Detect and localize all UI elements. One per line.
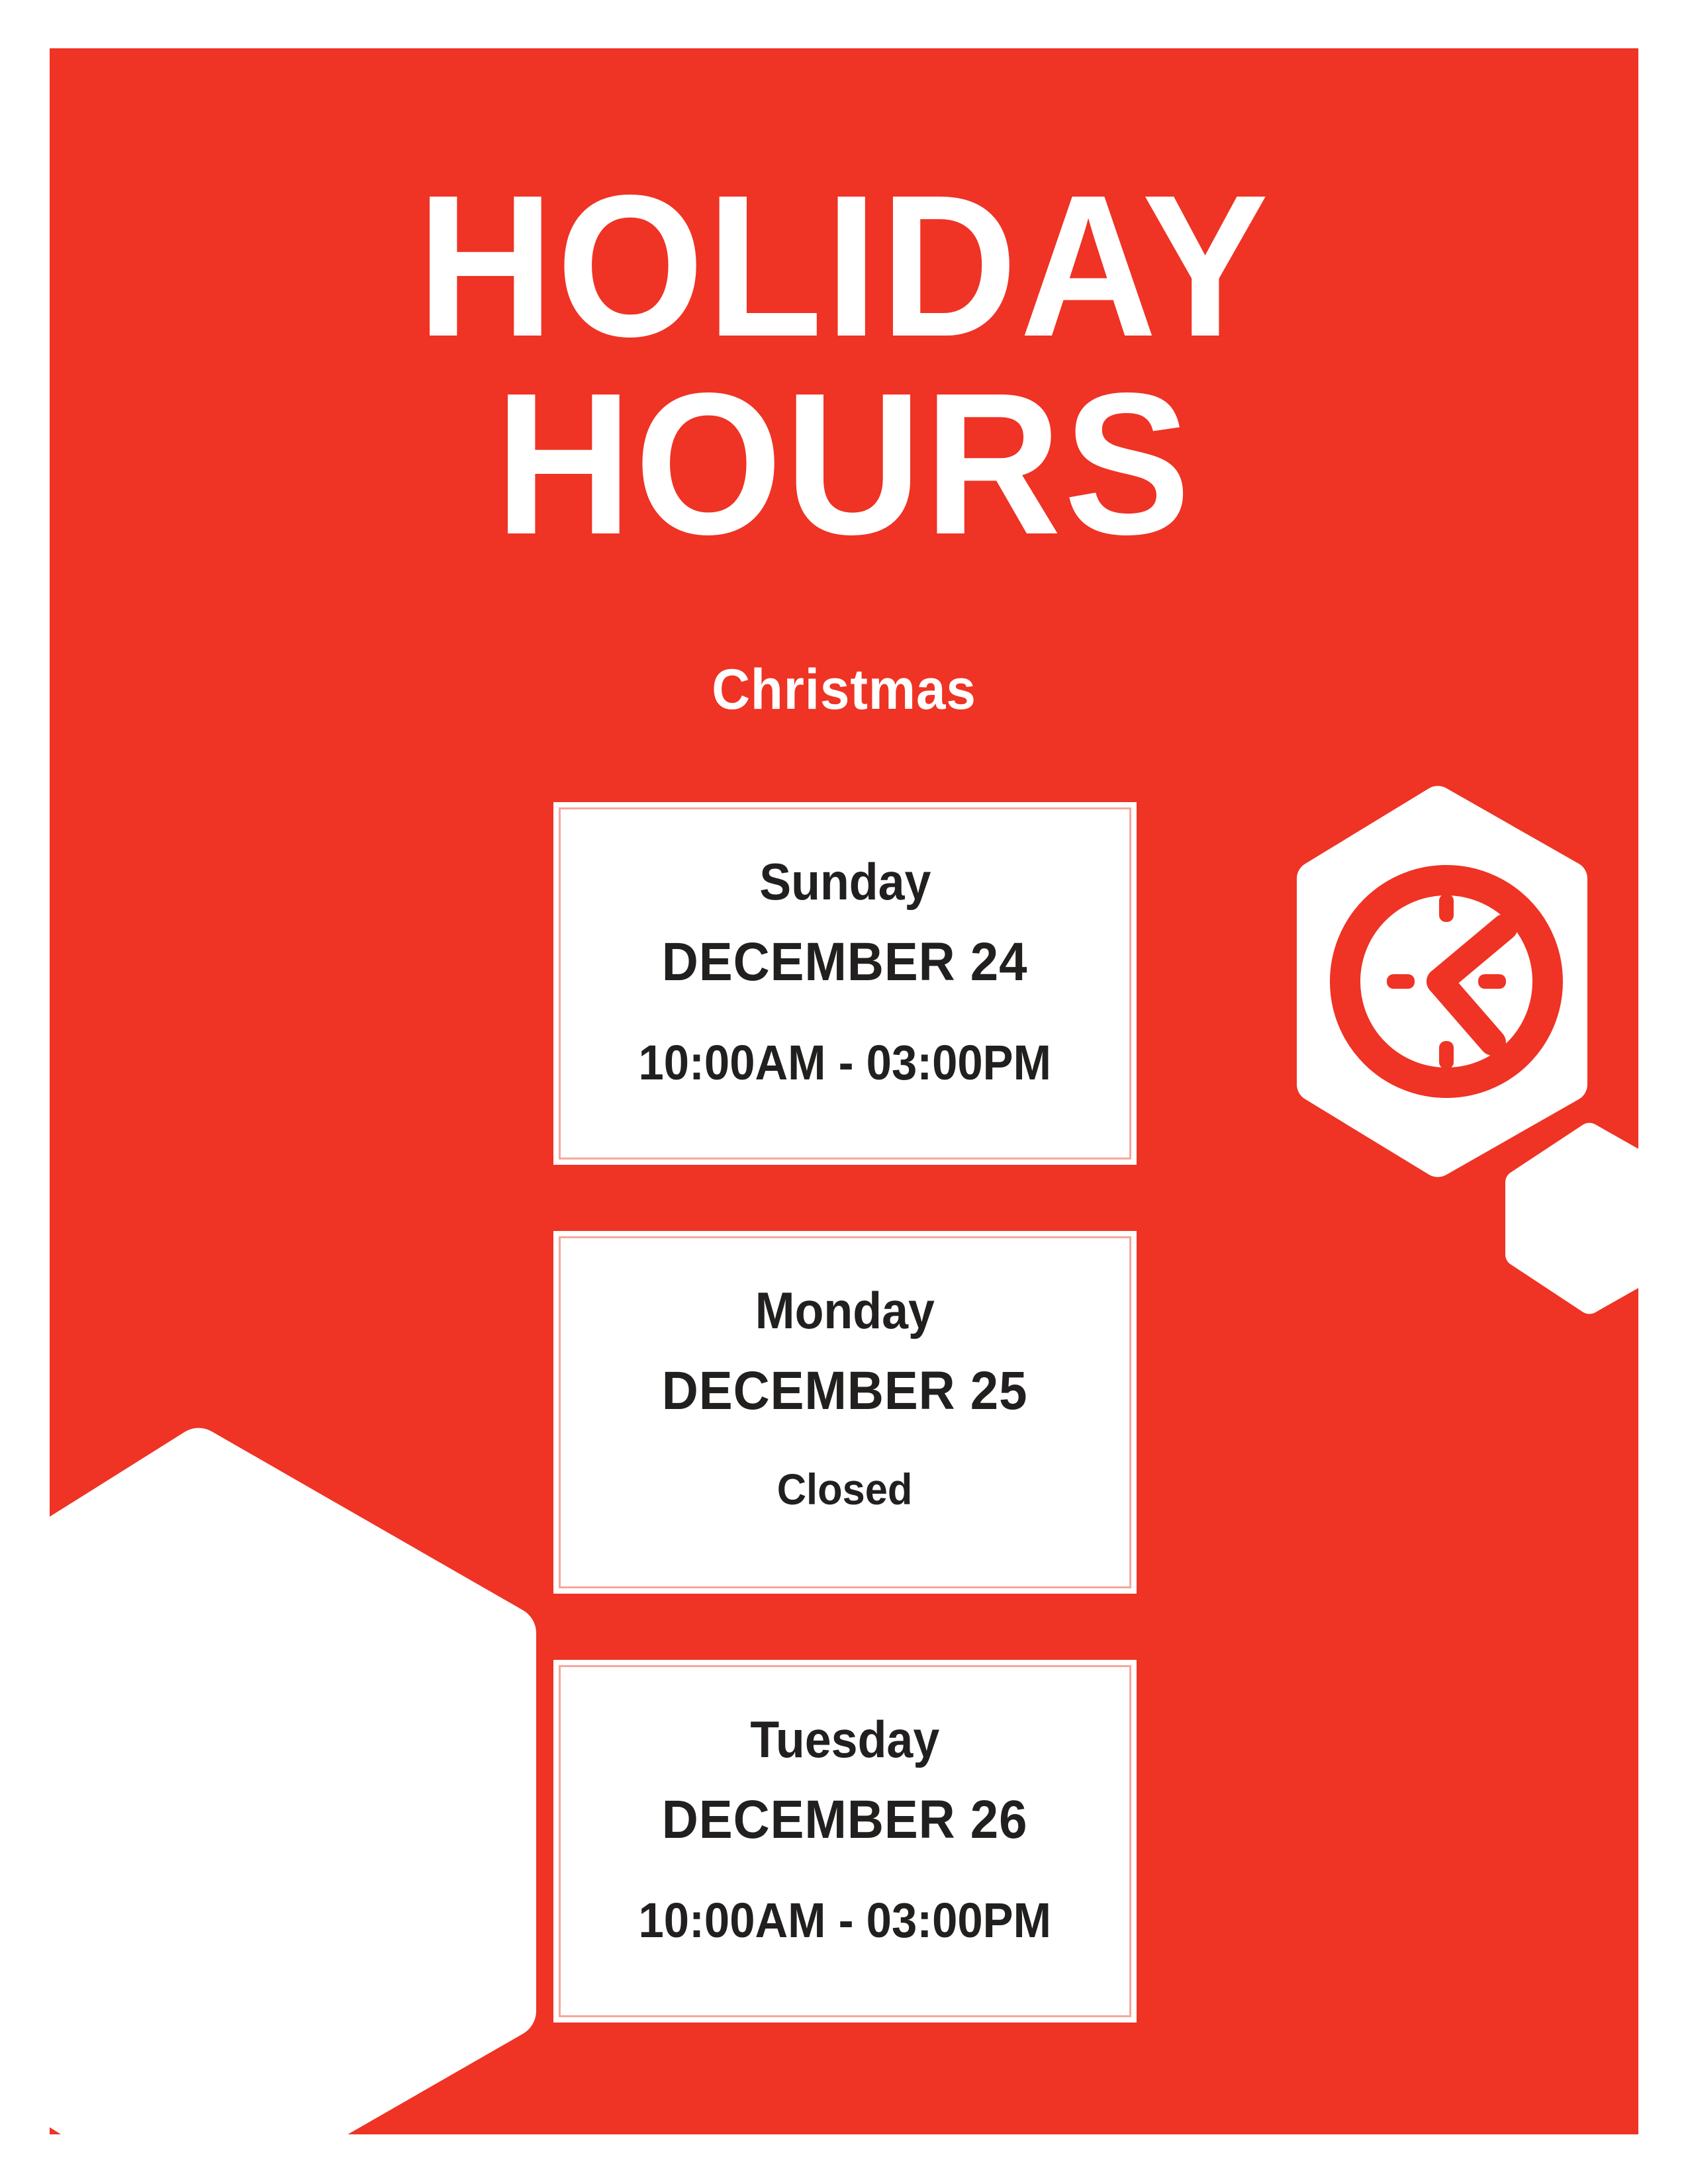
poster-subtitle: Christmas xyxy=(105,657,1583,723)
title-line-2: HOURS xyxy=(97,365,1591,563)
schedule-day-name: Monday xyxy=(755,1285,935,1336)
schedule-day-name: Tuesday xyxy=(751,1713,940,1765)
schedule-hours: Closed xyxy=(777,1467,913,1511)
title-line-1: HOLIDAY xyxy=(97,167,1591,365)
schedule-date: DECEMBER 26 xyxy=(662,1793,1028,1847)
holiday-hours-poster: HOLIDAY HOURS Christmas Sunday DECEMBER … xyxy=(0,0,1688,2184)
schedule-date: DECEMBER 24 xyxy=(662,935,1028,989)
schedule-hours: 10:00AM - 03:00PM xyxy=(639,1038,1051,1087)
schedule-card-inner: Monday DECEMBER 25 Closed xyxy=(559,1236,1131,1588)
clock-icon xyxy=(1294,783,1599,1180)
schedule-day-name: Sunday xyxy=(759,856,931,907)
page-title: HOLIDAY HOURS xyxy=(50,167,1638,563)
schedule-card: Monday DECEMBER 25 Closed xyxy=(553,1231,1137,1594)
schedule-card-inner: Sunday DECEMBER 24 10:00AM - 03:00PM xyxy=(559,807,1131,1160)
schedule-date: DECEMBER 25 xyxy=(662,1364,1028,1418)
schedule-card: Tuesday DECEMBER 26 10:00AM - 03:00PM xyxy=(553,1660,1137,2023)
hexagon-decoration-icon xyxy=(50,1412,546,2134)
schedule-card-inner: Tuesday DECEMBER 26 10:00AM - 03:00PM xyxy=(559,1665,1131,2017)
schedule-card: Sunday DECEMBER 24 10:00AM - 03:00PM xyxy=(553,802,1137,1165)
poster-background-panel: HOLIDAY HOURS Christmas Sunday DECEMBER … xyxy=(50,48,1638,2134)
schedule-hours: 10:00AM - 03:00PM xyxy=(639,1896,1051,1945)
